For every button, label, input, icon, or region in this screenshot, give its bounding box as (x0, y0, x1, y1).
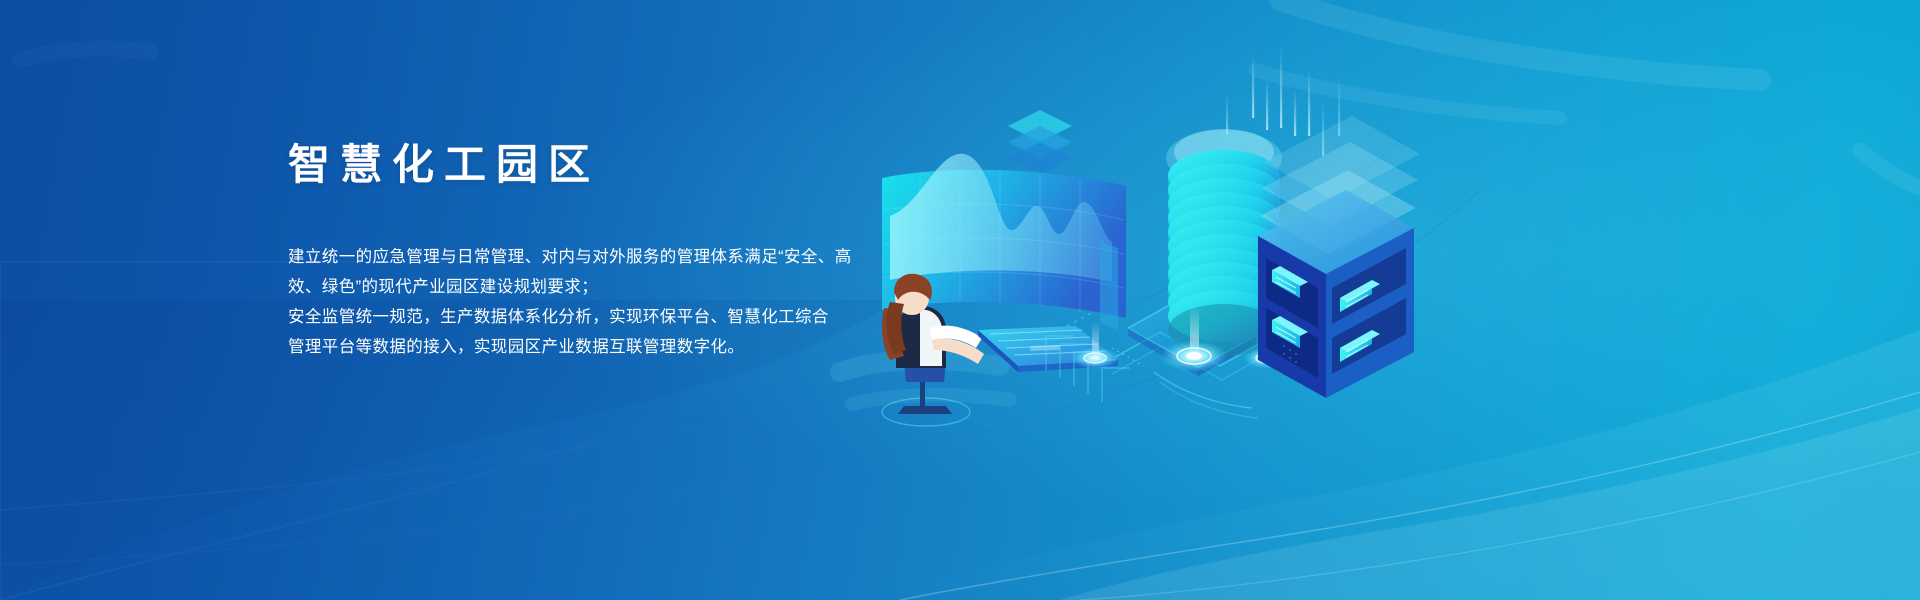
server-rack-cabinet (1258, 116, 1420, 398)
smart-park-illustration (860, 30, 1420, 450)
illustration-svg (860, 30, 1420, 450)
hero-banner: 智慧化工园区 建立统一的应急管理与日常管理、对内与对外服务的管理体系满足“安全、… (0, 0, 1920, 600)
floating-layer-cube-icon (1008, 110, 1072, 174)
